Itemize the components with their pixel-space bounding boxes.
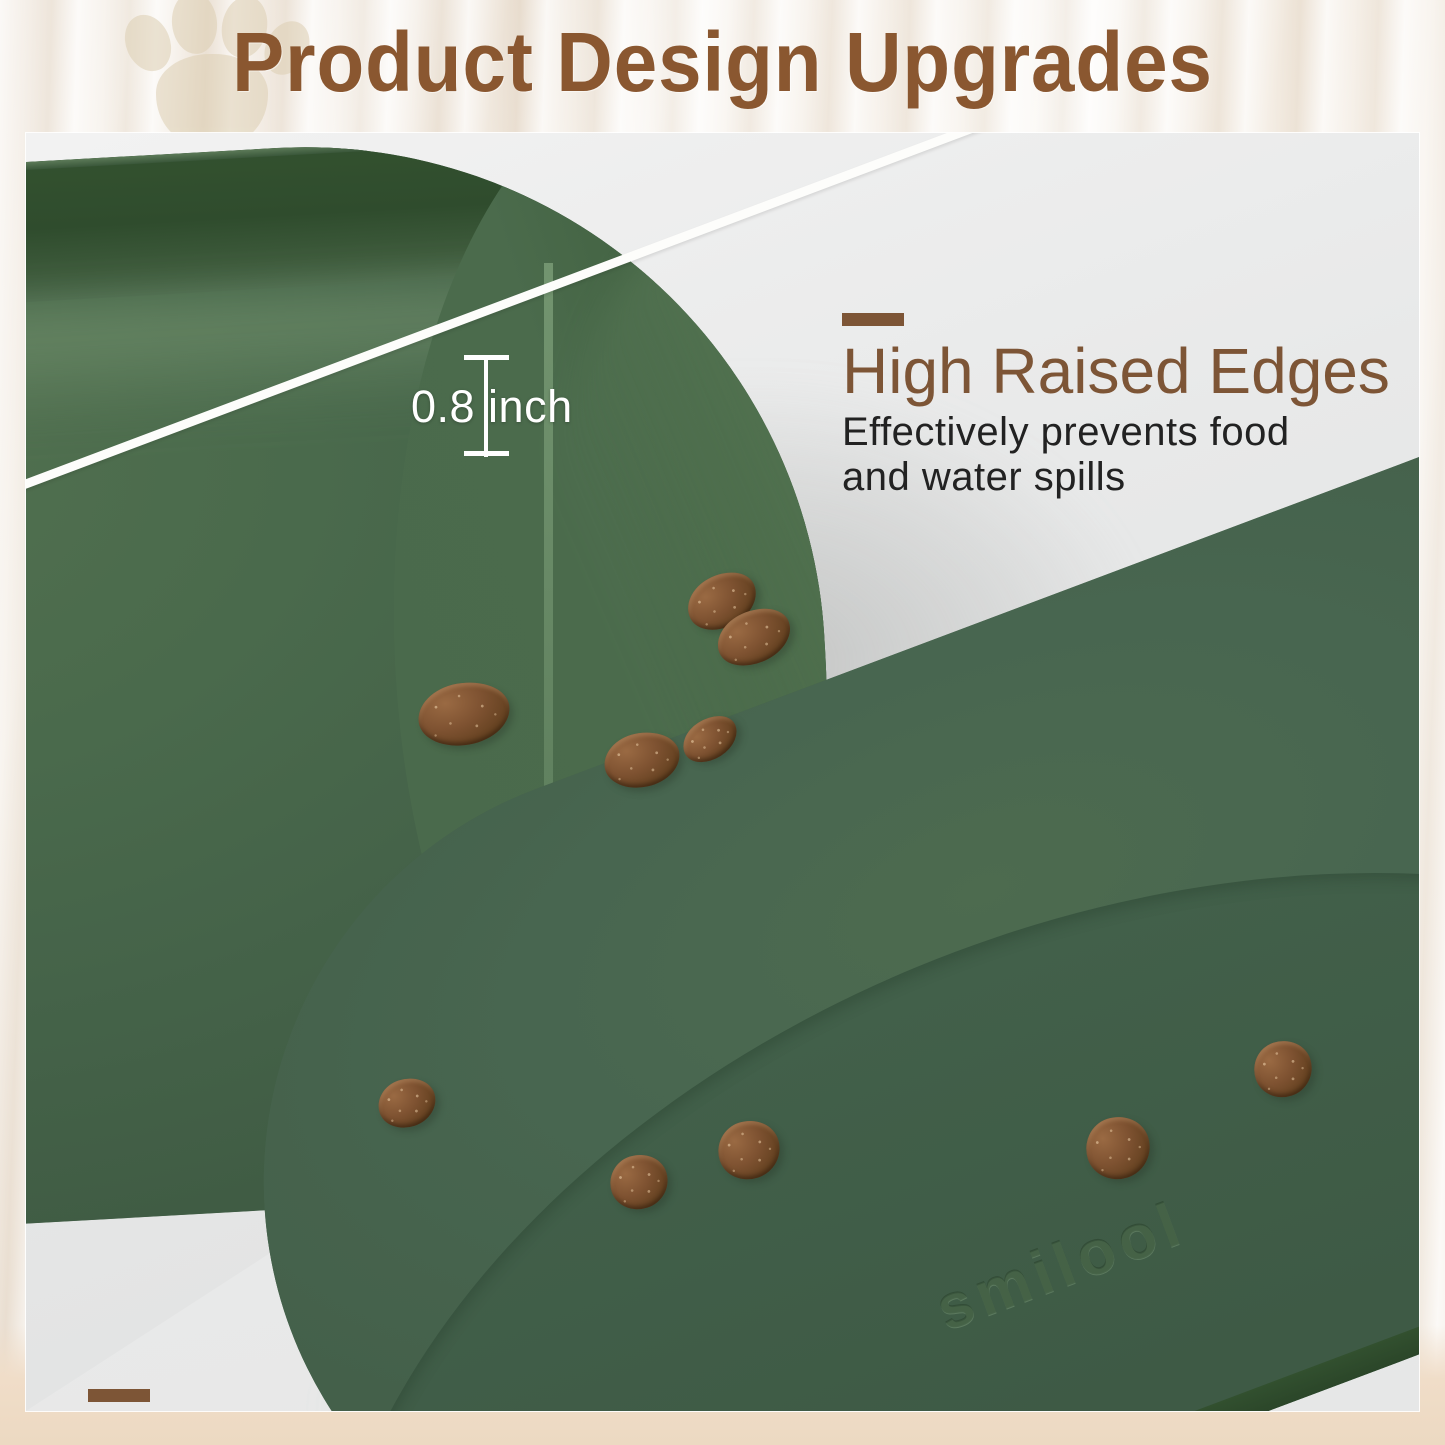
feature-accent-rule xyxy=(88,1389,150,1402)
feature-keeping-floor-clean: Keeping the floor clean Minimizes time s… xyxy=(88,1389,1208,1411)
feature-subtitle-line-1: Effectively prevents food xyxy=(842,410,1419,455)
product-photo-panel: smilool 0.8 inch High Raised Edges Effec… xyxy=(26,133,1419,1411)
title-band: Product Design Upgrades xyxy=(0,0,1445,133)
feature-high-raised-edges: High Raised Edges Effectively prevents f… xyxy=(842,313,1419,501)
feature-subtitle-line-2: and water spills xyxy=(842,455,1419,500)
product-infographic: Product Design Upgrades smiloo xyxy=(0,0,1445,1445)
feature-heading: High Raised Edges xyxy=(842,339,1419,404)
page-title: Product Design Upgrades xyxy=(51,14,1395,111)
dimension-label: 0.8 inch xyxy=(411,381,573,433)
feature-subtitle: Effectively prevents food and water spil… xyxy=(842,410,1419,500)
dimension-cap-bottom xyxy=(464,451,509,456)
feature-accent-rule xyxy=(842,313,904,326)
